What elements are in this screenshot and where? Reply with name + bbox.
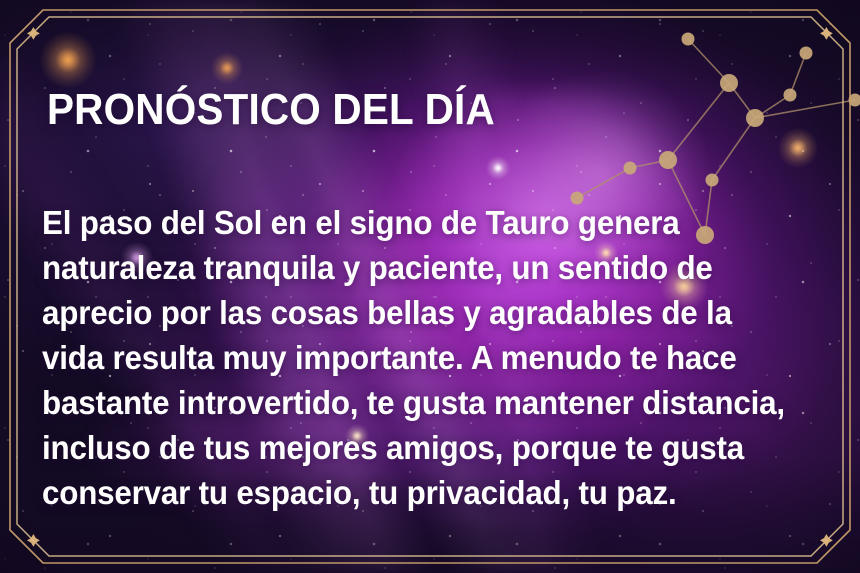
constellation-line bbox=[712, 118, 755, 180]
constellation-line bbox=[668, 83, 729, 160]
constellation-line bbox=[688, 39, 729, 83]
constellation-node bbox=[706, 174, 719, 187]
constellation-node bbox=[800, 47, 813, 60]
constellation-node bbox=[682, 33, 695, 46]
sparkle-icon-bottom-left bbox=[27, 534, 40, 547]
constellation-line bbox=[577, 168, 630, 198]
constellation-line bbox=[729, 83, 755, 118]
sparkle-icon-top-left bbox=[27, 27, 40, 40]
sparkle-icon-top-right bbox=[820, 27, 833, 40]
sparkle-icon-bottom-right bbox=[820, 534, 833, 547]
horoscope-body: El paso del Sol en el signo de Tauro gen… bbox=[42, 200, 793, 515]
glow-star bbox=[40, 32, 96, 88]
constellation-node bbox=[720, 74, 738, 92]
constellation-node bbox=[784, 89, 797, 102]
horoscope-card: PRONÓSTICO DEL DÍA El paso del Sol en el… bbox=[0, 0, 860, 573]
constellation-line bbox=[630, 160, 668, 168]
glow-star bbox=[778, 128, 818, 168]
glow-star bbox=[211, 52, 243, 84]
constellation-node bbox=[624, 162, 637, 175]
constellation-line bbox=[755, 100, 855, 118]
constellation-node bbox=[849, 94, 860, 107]
glow-star bbox=[486, 156, 510, 180]
constellation-line bbox=[790, 53, 806, 95]
page-title: PRONÓSTICO DEL DÍA bbox=[47, 88, 495, 133]
constellation-node bbox=[746, 109, 764, 127]
constellation-line bbox=[755, 95, 790, 118]
constellation-node bbox=[659, 151, 677, 169]
